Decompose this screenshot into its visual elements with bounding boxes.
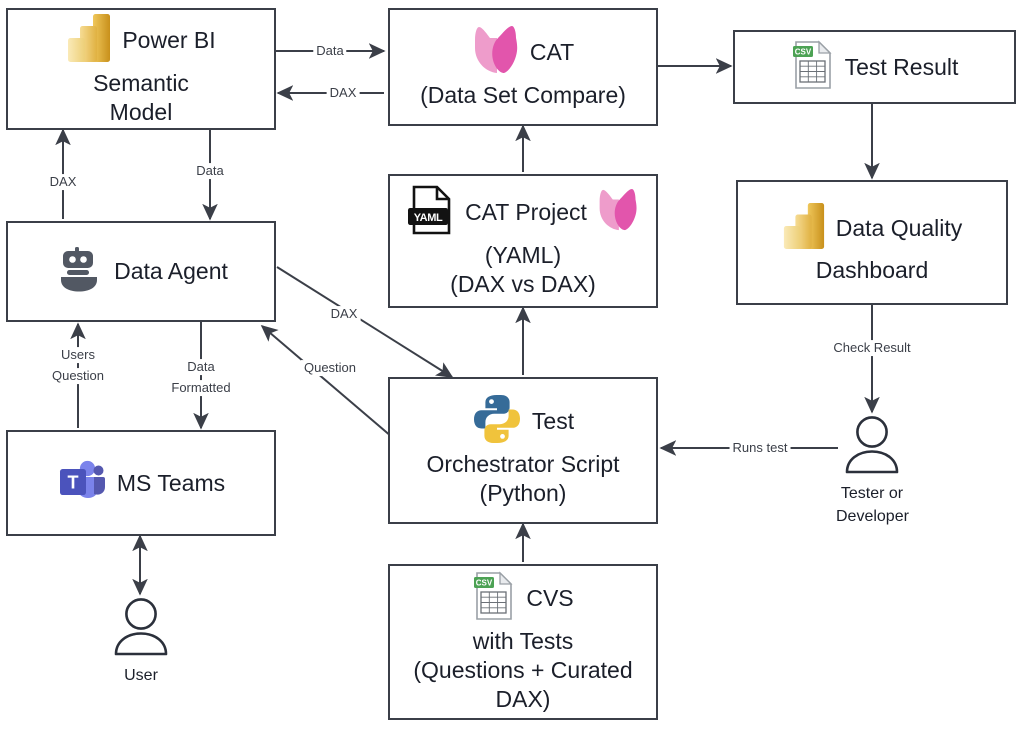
- edge-label-agent-to-orchestrator: DAX: [328, 306, 361, 322]
- node-title-power-bi: Power BI: [122, 26, 215, 55]
- node-test-orchestrator-script[interactable]: Test Orchestrator Script (Python): [388, 377, 658, 524]
- powerbi-line-3: Model: [16, 98, 266, 127]
- cat-line-1: CAT: [530, 38, 574, 67]
- csvtests-line-4: DAX): [398, 685, 648, 714]
- node-cat-project-yaml[interactable]: YAML CAT Project (YAML) (DAX vs DAX): [388, 174, 658, 308]
- catproject-line-2: (YAML): [398, 241, 648, 270]
- svg-text:YAML: YAML: [414, 212, 443, 224]
- msteams-line-1: MS Teams: [117, 469, 225, 498]
- svg-text:CSV: CSV: [794, 47, 811, 56]
- orchestrator-line-2: Orchestrator Script: [398, 450, 648, 479]
- ms-teams-icon: T: [57, 456, 107, 511]
- csv-file-icon: CSV: [791, 39, 835, 96]
- node-cat-data-set-compare[interactable]: CAT (Data Set Compare): [388, 8, 658, 126]
- dashboard-line-2: Dashboard: [746, 256, 998, 285]
- actor-user-caption-line1: User: [105, 666, 177, 686]
- svg-text:T: T: [67, 472, 78, 492]
- svg-text:CSV: CSV: [476, 579, 493, 588]
- edge-label-runs-test: Runs test: [730, 440, 791, 456]
- actor-tester-caption-line2: Developer: [836, 507, 908, 527]
- actor-user[interactable]: User: [105, 596, 177, 686]
- csvtests-line-1: CVS: [526, 584, 573, 613]
- powerbi-line-2: Semantic: [16, 69, 266, 98]
- edge-label-users-question-line1: Users: [58, 347, 98, 363]
- node-cvs-with-tests[interactable]: CSV CVS with Tests (Questions + Curated …: [388, 564, 658, 720]
- csvtests-line-2: with Tests: [398, 627, 648, 656]
- robot-icon: [54, 244, 104, 299]
- csv-file-icon: CSV: [472, 570, 516, 627]
- edge-label-data-formatted-line1: Data: [184, 359, 217, 375]
- testresult-line-1: Test Result: [845, 53, 959, 82]
- cat-line-2: (Data Set Compare): [398, 81, 648, 110]
- catproject-line-3: (DAX vs DAX): [398, 270, 648, 299]
- person-icon: [836, 414, 908, 476]
- yaml-file-icon: YAML: [407, 184, 455, 241]
- diagram-canvas: Data DAX DAX Data Users Question Data Fo…: [0, 0, 1024, 729]
- edge-label-pbi-to-cat: Data: [313, 43, 346, 59]
- edge-label-data-formatted-line2: Formatted: [168, 380, 233, 396]
- node-ms-teams[interactable]: T MS Teams: [6, 430, 276, 536]
- cat-logo-icon: [472, 24, 520, 81]
- edge-label-cat-to-pbi: DAX: [327, 85, 360, 101]
- orchestrator-line-3: (Python): [398, 479, 648, 508]
- dashboard-line-1: Data Quality: [836, 214, 963, 243]
- power-bi-icon: [782, 201, 826, 256]
- powerbi-line-1: Power BI: [122, 27, 215, 53]
- edge-label-agent-to-pbi: DAX: [47, 174, 80, 190]
- dataagent-line-1: Data Agent: [114, 257, 228, 286]
- node-power-bi-semantic-model[interactable]: Power BI Semantic Model: [6, 8, 276, 130]
- power-bi-icon: [66, 12, 112, 69]
- orchestrator-line-1: Test: [532, 407, 574, 436]
- person-icon: [105, 596, 177, 658]
- node-test-result[interactable]: CSV Test Result: [733, 30, 1016, 104]
- edge-label-users-question-line2: Question: [49, 368, 107, 384]
- node-data-agent[interactable]: Data Agent: [6, 221, 276, 322]
- actor-tester-or-developer[interactable]: Tester or Developer: [836, 414, 908, 527]
- python-icon: [472, 393, 522, 450]
- edge-label-pbi-to-agent: Data: [193, 163, 226, 179]
- edge-label-orchestrator-to-agent: Question: [301, 360, 359, 376]
- catproject-line-1: CAT Project: [465, 198, 587, 227]
- edge-orchestrator-to-agent: [262, 326, 392, 437]
- actor-tester-caption-line1: Tester or: [836, 484, 908, 504]
- edge-label-check-result: Check Result: [830, 340, 913, 356]
- csvtests-line-3: (Questions + Curated: [398, 656, 648, 685]
- node-data-quality-dashboard[interactable]: Data Quality Dashboard: [736, 180, 1008, 305]
- cat-logo-icon-small: [597, 187, 639, 238]
